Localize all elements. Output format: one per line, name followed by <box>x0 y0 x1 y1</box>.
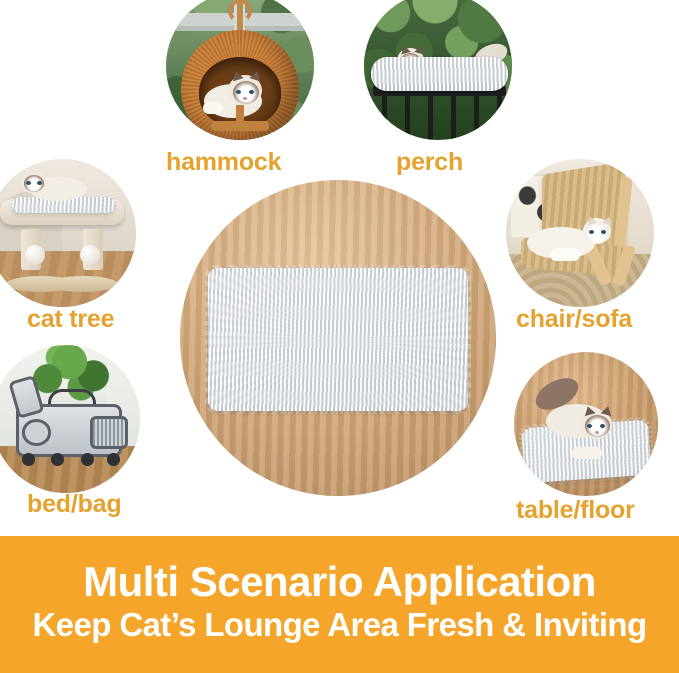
scene-bubble-hammock <box>166 0 314 140</box>
cat-paws <box>572 447 602 459</box>
scene-bubble-perch <box>364 0 512 140</box>
grey-fluffy-pet-mat <box>371 57 507 91</box>
label-bed-bag: bed/bag <box>27 492 121 517</box>
cat-paws <box>550 248 580 261</box>
label-table-floor: table/floor <box>516 498 635 523</box>
table-floor-scene <box>514 352 658 496</box>
carrier-wheel <box>22 453 35 466</box>
cat-tree-scene <box>0 159 136 307</box>
perch-scene <box>364 0 512 140</box>
scene-bubble-chair-sofa <box>506 159 654 307</box>
cat-eye-right <box>249 90 254 94</box>
cat-eye-right <box>601 230 606 234</box>
label-perch: perch <box>396 150 463 175</box>
banner-subtitle: Keep Cat’s Lounge Area Fresh & Inviting <box>32 608 646 643</box>
carrier-mesh-panel <box>90 416 128 449</box>
scene-bubble-bed-bag <box>0 345 140 493</box>
pom-pom-toy-left <box>25 245 45 265</box>
cat-eye-left <box>236 90 241 94</box>
cat-eye-left <box>589 230 594 234</box>
cat-paw <box>203 102 223 114</box>
label-hammock: hammock <box>166 150 281 175</box>
label-chair-sofa: chair/sofa <box>516 307 632 332</box>
grey-fluffy-pet-mat <box>208 268 467 410</box>
chair-sofa-scene <box>506 159 654 307</box>
banner-title: Multi Scenario Application <box>83 561 596 604</box>
bottom-banner: Multi Scenario Application Keep Cat’s Lo… <box>0 536 679 673</box>
hanging-strap <box>237 1 243 34</box>
scene-bubble-table-floor <box>514 352 658 496</box>
carrier-window <box>22 419 52 446</box>
cat-nose <box>595 431 599 434</box>
scene-bubble-cat-tree <box>0 159 136 307</box>
hammock-scene <box>166 0 314 140</box>
bed-bag-scene <box>0 345 140 493</box>
infographic-canvas: hammock perch <box>0 0 679 673</box>
center-product-bubble <box>180 180 496 496</box>
hammock-stand <box>211 121 269 131</box>
label-cat-tree: cat tree <box>27 307 114 332</box>
